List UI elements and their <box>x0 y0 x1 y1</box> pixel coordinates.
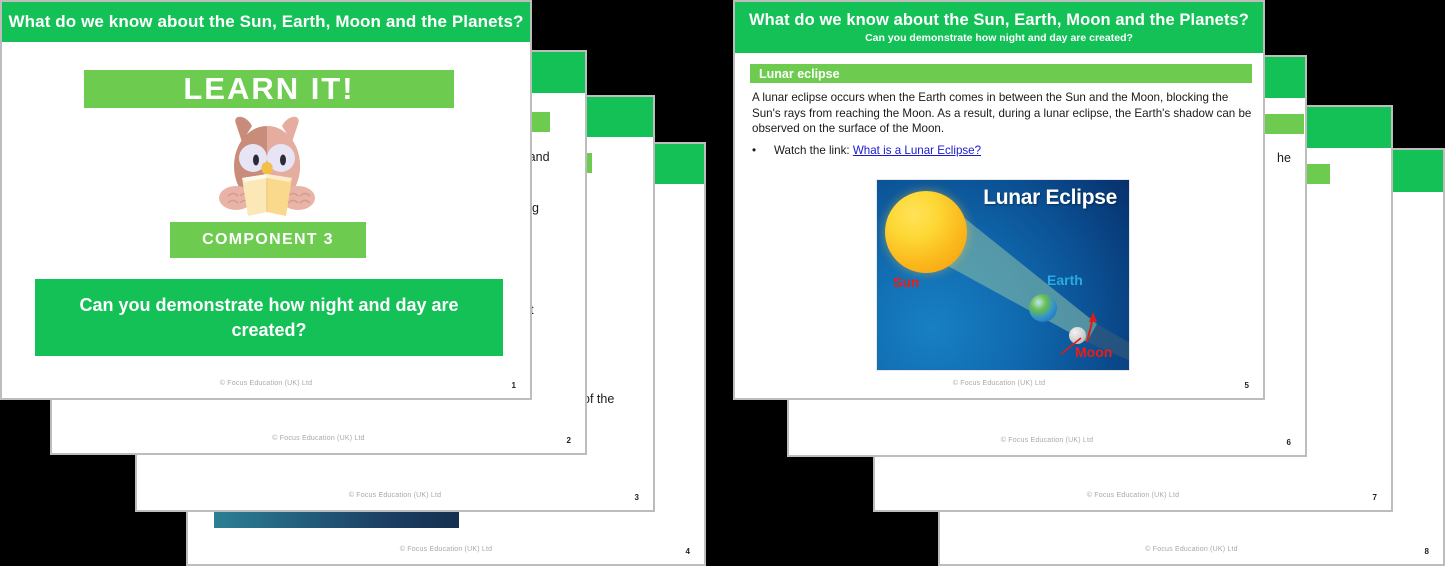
slide-3-page-number: 3 <box>635 493 639 502</box>
lunar-eclipse-video-link[interactable]: What is a Lunar Eclipse? <box>853 144 981 157</box>
bullet-dot-icon: • <box>752 144 774 157</box>
lunar-eclipse-diagram: Sun Earth Moon Lunar Eclipse <box>876 179 1130 371</box>
slide-deck-overview: ets? y day © Focus Education (UK) Ltd 4 … <box>0 0 1445 566</box>
slide-1-page-number: 1 <box>512 381 516 390</box>
slide-1-title: What do we know about the Sun, Earth, Mo… <box>9 12 524 32</box>
slide-8-page-number: 8 <box>1425 547 1429 556</box>
slide-1-copyright: © Focus Education (UK) Ltd <box>2 380 530 387</box>
slide-6-copyright: © Focus Education (UK) Ltd <box>789 437 1305 444</box>
lunar-eclipse-paragraph: A lunar eclipse occurs when the Earth co… <box>752 90 1252 137</box>
slide-5-title: What do we know about the Sun, Earth, Mo… <box>749 11 1249 30</box>
slide-6-text-fragment-0: he <box>1277 146 1291 171</box>
slide-thumbnail-1[interactable]: What do we know about the Sun, Earth, Mo… <box>0 0 532 400</box>
slide-3-text-fragment-0: of the <box>583 387 614 412</box>
slide-4-page-number: 4 <box>686 547 690 556</box>
section-heading-lunar-eclipse: Lunar eclipse <box>750 64 1252 83</box>
diagram-title: Lunar Eclipse <box>983 186 1117 210</box>
slide-1-header: What do we know about the Sun, Earth, Mo… <box>2 2 530 42</box>
slide-7-page-number: 7 <box>1373 493 1377 502</box>
slide-5-page-number: 5 <box>1245 381 1249 390</box>
slide-6-page-number: 6 <box>1287 438 1291 447</box>
learn-it-banner: LEARN IT! <box>84 70 454 108</box>
slide-8-copyright: © Focus Education (UK) Ltd <box>940 546 1443 553</box>
earth-graphic <box>1029 294 1057 322</box>
slide-4-copyright: © Focus Education (UK) Ltd <box>188 546 704 553</box>
sun-label: Sun <box>893 274 919 290</box>
slide-2-copyright: © Focus Education (UK) Ltd <box>52 435 585 442</box>
learning-question-box: Can you demonstrate how night and day ar… <box>35 279 503 356</box>
slide-5-subtitle: Can you demonstrate how night and day ar… <box>865 32 1133 44</box>
slide-2-page-number: 2 <box>567 436 571 445</box>
moon-orbit-arrows-icon <box>1057 298 1107 358</box>
owl-reading-book-icon <box>212 112 322 220</box>
slide-5-header: What do we know about the Sun, Earth, Mo… <box>735 2 1263 53</box>
earth-label: Earth <box>1047 272 1083 288</box>
slide-5-copyright: © Focus Education (UK) Ltd <box>735 380 1263 387</box>
watch-link-prefix: Watch the link: <box>774 144 850 157</box>
watch-link-bullet: •Watch the link: What is a Lunar Eclipse… <box>752 144 1252 157</box>
component-badge: COMPONENT 3 <box>170 222 366 258</box>
slide-3-copyright: © Focus Education (UK) Ltd <box>137 492 653 499</box>
sun-graphic <box>885 191 967 273</box>
slide-7-copyright: © Focus Education (UK) Ltd <box>875 492 1391 499</box>
